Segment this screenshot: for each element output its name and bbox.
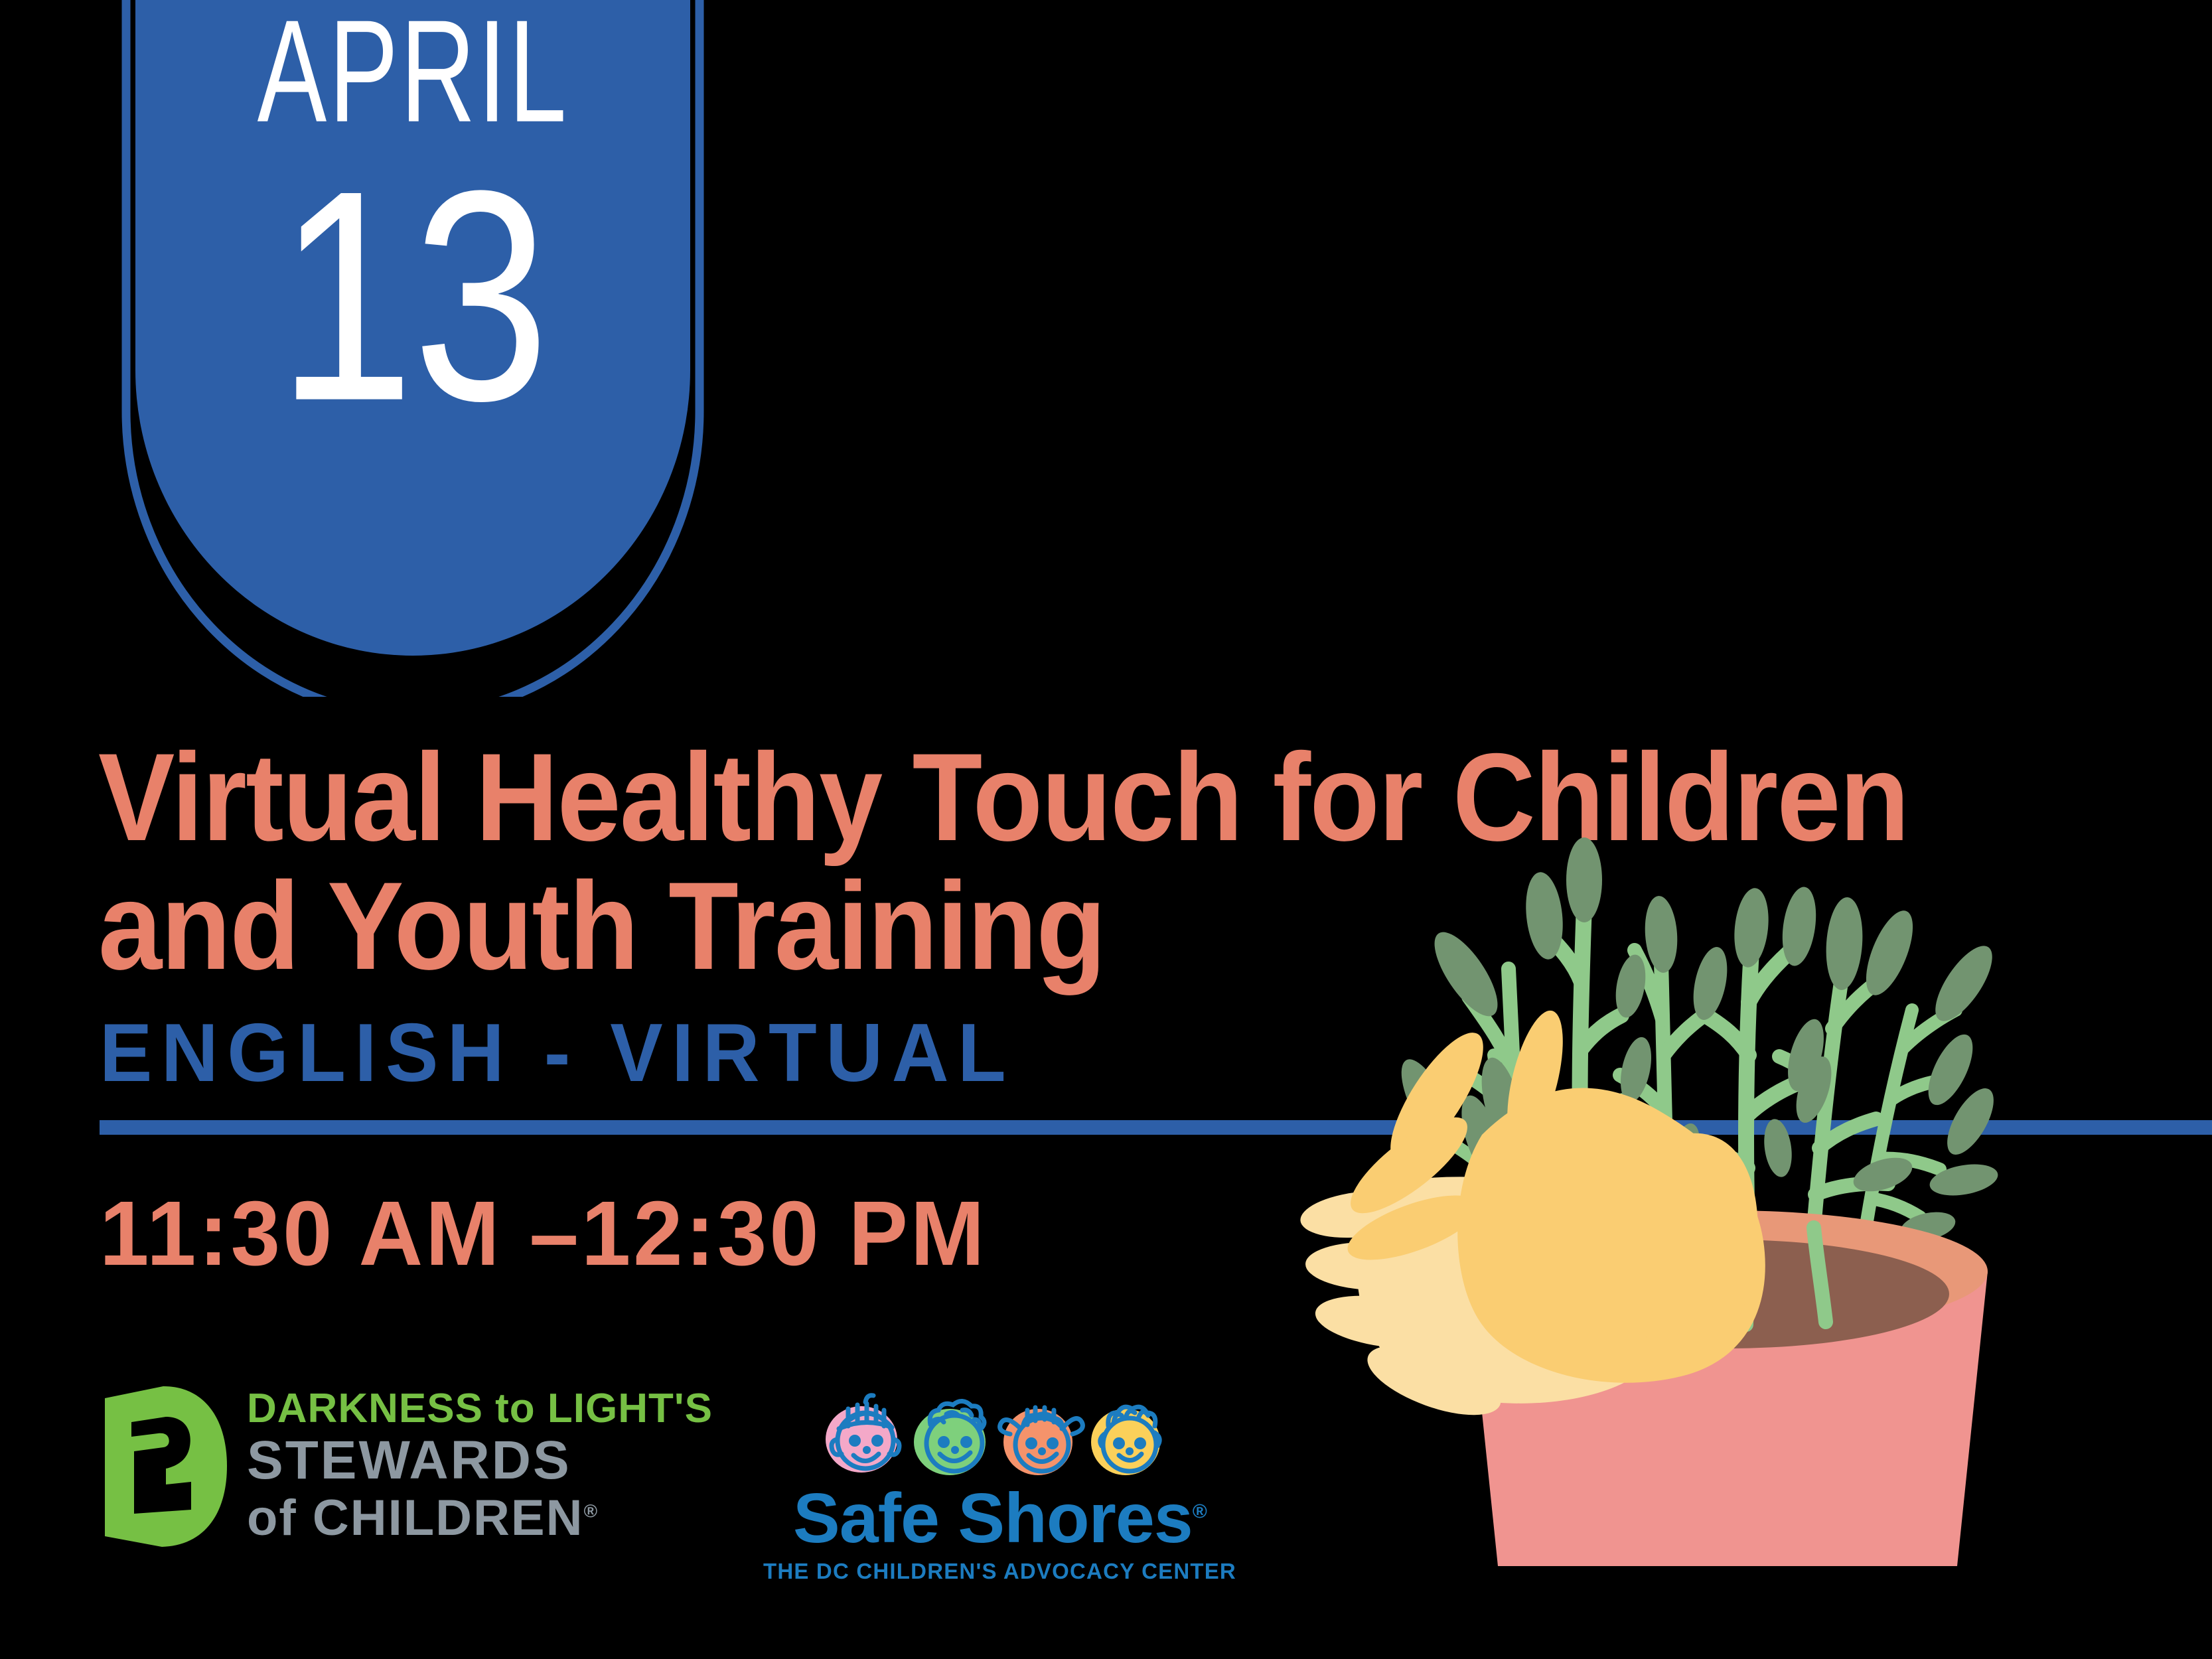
title-line-1: Virtual Healthy Touch for Children xyxy=(98,733,1625,862)
d2l-of-children: of CHILDREN® xyxy=(247,1492,713,1545)
badge-month-label: APRIL xyxy=(257,0,568,145)
d2l-d-mark-icon xyxy=(100,1384,230,1550)
d2l-of-children-text: of CHILDREN xyxy=(247,1490,584,1546)
safe-shores-name: Safe Shores xyxy=(793,1479,1193,1557)
gardening-gloves xyxy=(1298,1005,1765,1429)
safe-shores-faces-icon xyxy=(814,1388,1185,1480)
d2l-stewards: STEWARDS xyxy=(247,1432,713,1489)
subtitle-language-format: ENGLISH - VIRTUAL xyxy=(100,1012,1015,1094)
event-time: 11:30 AM –12:30 PM xyxy=(100,1188,987,1279)
horizontal-divider xyxy=(100,1120,2212,1135)
darkness-to-light-logo: DARKNESS to LIGHT'S STEWARDS of CHILDREN… xyxy=(100,1384,713,1550)
stems-in-soil xyxy=(1560,1228,1826,1325)
registered-trademark-icon: ® xyxy=(1193,1501,1207,1523)
date-badge-content: APRIL 13 xyxy=(135,0,690,656)
registered-trademark-icon: ® xyxy=(584,1501,599,1522)
date-badge: APRIL 13 xyxy=(121,0,705,697)
d2l-tagline-darkness-to-lights: DARKNESS to LIGHT'S xyxy=(247,1388,713,1429)
badge-day-number: 13 xyxy=(277,154,548,439)
page-title: Virtual Healthy Touch for Children and Y… xyxy=(98,733,1757,990)
title-line-2: and Youth Training xyxy=(98,862,1625,991)
d2l-wordmark: DARKNESS to LIGHT'S STEWARDS of CHILDREN… xyxy=(247,1388,713,1545)
safe-shores-tagline: THE DC CHILDREN'S ADVOCACY CENTER xyxy=(763,1560,1236,1582)
logo-row: DARKNESS to LIGHT'S STEWARDS of CHILDREN… xyxy=(100,1384,1236,1582)
flower-pot xyxy=(1467,1210,1988,1566)
safe-shores-wordmark: Safe Shores® xyxy=(793,1483,1207,1553)
event-poster: APRIL 13 Virtual Healthy Touch for Child… xyxy=(0,0,2212,1659)
safe-shores-logo: Safe Shores® THE DC CHILDREN'S ADVOCACY … xyxy=(763,1388,1236,1582)
glove-front xyxy=(1338,1005,1765,1383)
glove-back xyxy=(1298,1177,1679,1429)
